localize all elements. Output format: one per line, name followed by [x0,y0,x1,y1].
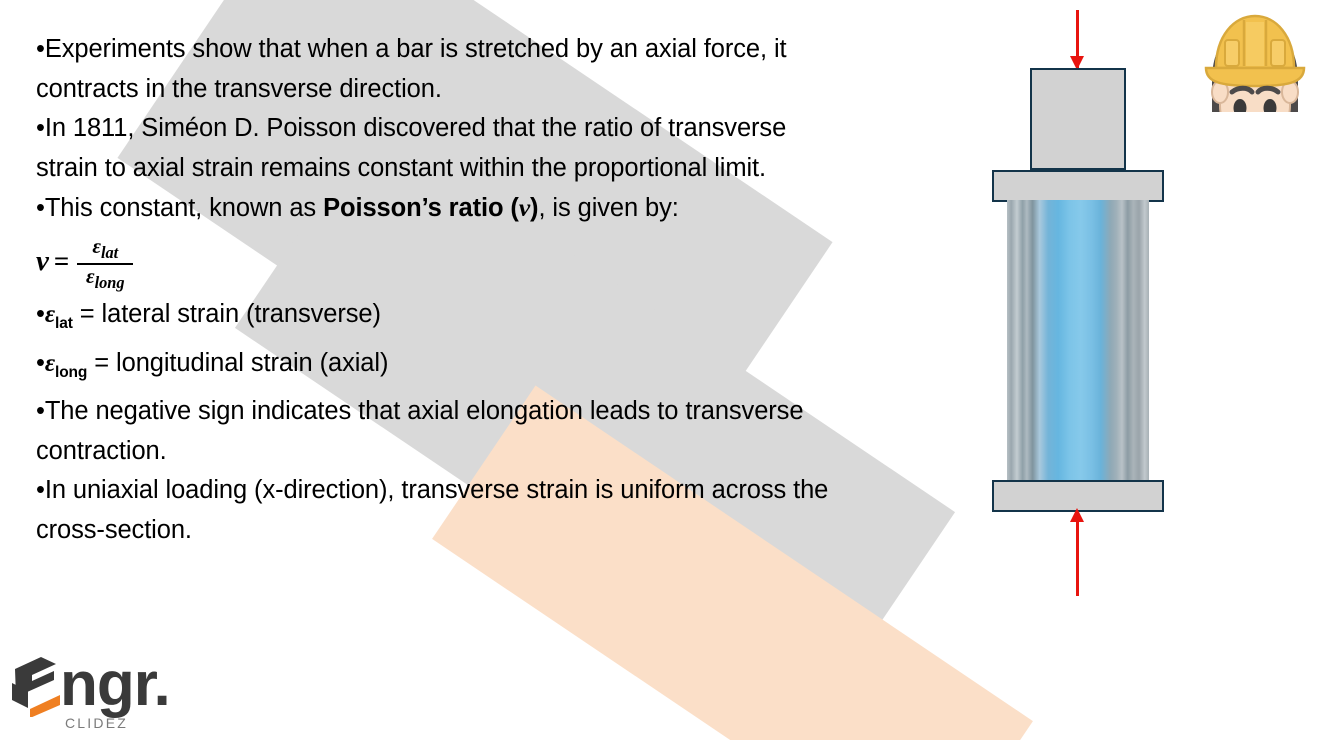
specimen-cylinder [1007,200,1149,482]
force-arrow-up-shaft [1076,518,1079,596]
definition-item-longitudinal: •εlong = longitudinal strain (axial) [36,344,836,393]
bullet-marker: • [36,476,45,504]
formula-denominator: εlong [82,265,129,293]
poissons-ratio-formula: ν = εlat εlong [36,231,836,293]
logo-wordmark: ngr. [60,649,170,720]
bullet-text: In 1811, Siméon D. Poisson discovered th… [36,114,786,182]
formula-equals-sign: = [54,246,69,277]
bullet-marker: • [36,194,45,222]
bullet-item: •In uniaxial loading (x-direction), tran… [36,471,836,550]
bullet-marker: • [36,300,45,328]
epsilon-subscript: long [55,364,87,381]
epsilon-subscript: lat [101,244,118,263]
bullet-text: The negative sign indicates that axial e… [36,397,803,465]
definition-text: = lateral strain (transverse) [73,300,381,328]
engineer-avatar [1194,2,1316,112]
bold-term-open: Poisson’s ratio ( [323,194,519,222]
formula-fraction: εlat εlong [77,235,133,292]
top-load-block [1030,68,1126,170]
epsilon-lat-symbol: εlat [45,301,73,328]
bullet-item: •In 1811, Siméon D. Poisson discovered t… [36,109,836,188]
brand-logo: ngr. CLIDEZ [8,655,183,735]
logo-subtext: CLIDEZ [65,715,128,731]
definition-text: = longitudinal strain (axial) [87,349,388,377]
formula-numerator: εlat [88,235,122,263]
bullet-lead-text: This constant, known as [45,194,323,222]
slide-body-text: •Experiments show that when a bar is str… [36,30,836,551]
bullet-text: Experiments show that when a bar is stre… [36,35,787,103]
epsilon-symbol: ε [92,234,101,258]
epsilon-subscript: long [95,273,125,292]
bullet-marker: • [36,397,45,425]
formula-nu-symbol: ν [36,245,49,278]
top-platen [992,170,1164,202]
epsilon-subscript: lat [55,315,73,332]
slide-canvas: •Experiments show that when a bar is str… [0,0,1318,740]
bullet-trail-text: , is given by: [538,194,678,222]
bullet-marker: • [36,349,45,377]
epsilon-glyph: ε [45,301,55,328]
logo-word-text: ngr [60,650,153,719]
logo-dot: . [153,650,169,719]
epsilon-symbol: ε [86,264,95,288]
bullet-item-poissons-ratio: •This constant, known as Poisson’s ratio… [36,188,836,229]
bullet-text: In uniaxial loading (x-direction), trans… [36,476,828,544]
bullet-item: •The negative sign indicates that axial … [36,392,836,471]
engr-mark-icon [8,655,68,717]
epsilon-glyph: ε [45,350,55,377]
definition-item-lateral: •εlat = lateral strain (transverse) [36,295,836,344]
bullet-marker: • [36,114,45,142]
epsilon-long-symbol: εlong [45,350,87,377]
nu-symbol: ν [519,193,530,222]
bullet-marker: • [36,35,45,63]
bullet-item: •Experiments show that when a bar is str… [36,30,836,109]
